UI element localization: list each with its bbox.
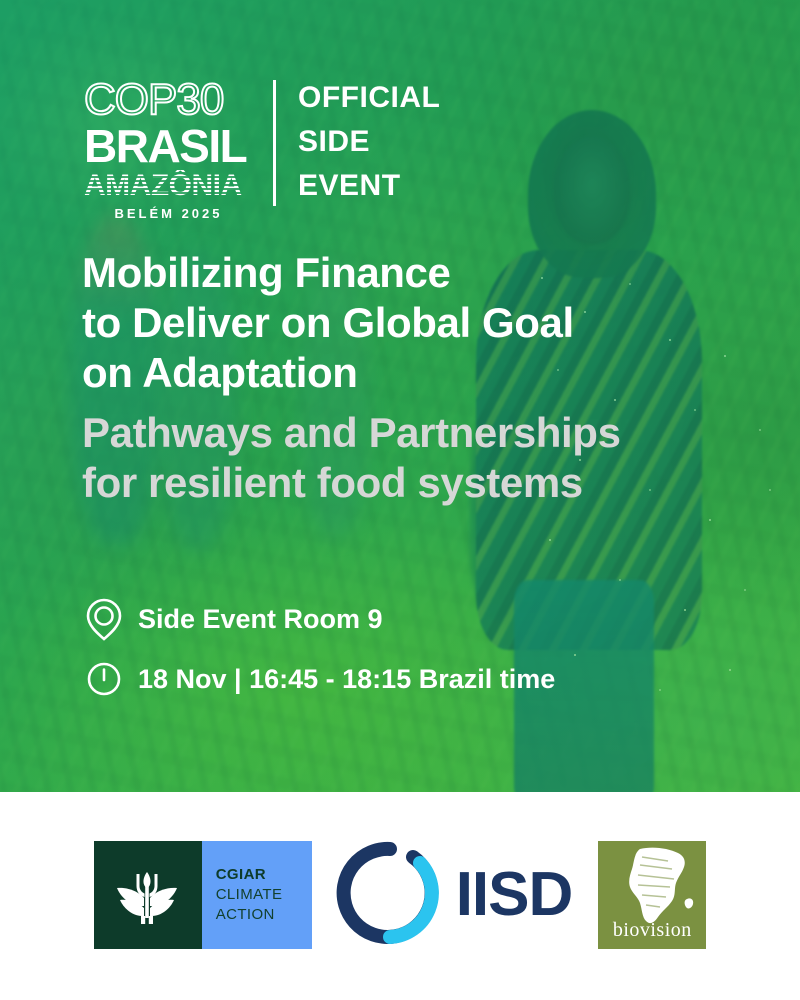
subtitle-line-1: Pathways and Partnerships (82, 408, 732, 458)
datetime-row: 18 Nov | 16:45 - 18:15 Brazil time (84, 656, 555, 702)
badge-line-event: EVENT (298, 164, 440, 208)
badge-line-side: SIDE (298, 120, 440, 164)
clock-icon (84, 656, 124, 702)
cop30-logo: COP30 BRASIL AMAZÔNIA BELÉM 2025 (84, 76, 259, 223)
iisd-ring-icon (334, 837, 446, 954)
event-title: Mobilizing Finance to Deliver on Global … (82, 248, 732, 508)
cop30-logo-line-brasil: BRASIL (84, 124, 259, 168)
cop30-logo-line-cop30: COP30 (84, 78, 259, 122)
badge-line-official: OFFICIAL (298, 76, 440, 120)
title-line-1: Mobilizing Finance (82, 248, 732, 298)
iisd-logo: IISD (334, 837, 573, 954)
title-line-2: to Deliver on Global Goal (82, 298, 732, 348)
location-pin-icon (84, 596, 124, 642)
wheat-icon (111, 856, 185, 934)
subtitle-line-2: for resilient food systems (82, 458, 732, 508)
logo-row: CGIAR CLIMATE ACTION IISD (0, 840, 800, 950)
header: COP30 BRASIL AMAZÔNIA BELÉM 2025 OFFICIA… (84, 76, 440, 223)
event-poster: COP30 BRASIL AMAZÔNIA BELÉM 2025 OFFICIA… (0, 0, 800, 1000)
cgiar-logo-mark (94, 841, 202, 949)
header-divider (273, 80, 276, 206)
africa-map-icon (598, 841, 706, 931)
iisd-wordmark: IISD (456, 864, 573, 926)
location-row: Side Event Room 9 (84, 596, 555, 642)
event-details: Side Event Room 9 18 Nov | 16:45 - 18:15… (84, 596, 555, 716)
cgiar-climate-action-logo: CGIAR CLIMATE ACTION (202, 841, 312, 949)
official-side-event-badge: OFFICIAL SIDE EVENT (298, 76, 440, 208)
climate-label: CLIMATE (216, 885, 312, 905)
partner-logo-bar: CGIAR CLIMATE ACTION IISD (0, 792, 800, 1000)
hero-photo: COP30 BRASIL AMAZÔNIA BELÉM 2025 OFFICIA… (0, 0, 800, 792)
datetime-text: 18 Nov | 16:45 - 18:15 Brazil time (138, 664, 555, 695)
cgiar-label: CGIAR (216, 865, 312, 885)
location-text: Side Event Room 9 (138, 604, 383, 635)
cop30-logo-line-amazonia: AMAZÔNIA (84, 170, 259, 202)
biovision-wordmark: biovision (598, 919, 706, 942)
cop30-logo-line-belem: BELÉM 2025 (84, 205, 259, 223)
biovision-logo: biovision (598, 841, 706, 949)
title-line-3: on Adaptation (82, 348, 732, 398)
action-label: ACTION (216, 905, 312, 925)
